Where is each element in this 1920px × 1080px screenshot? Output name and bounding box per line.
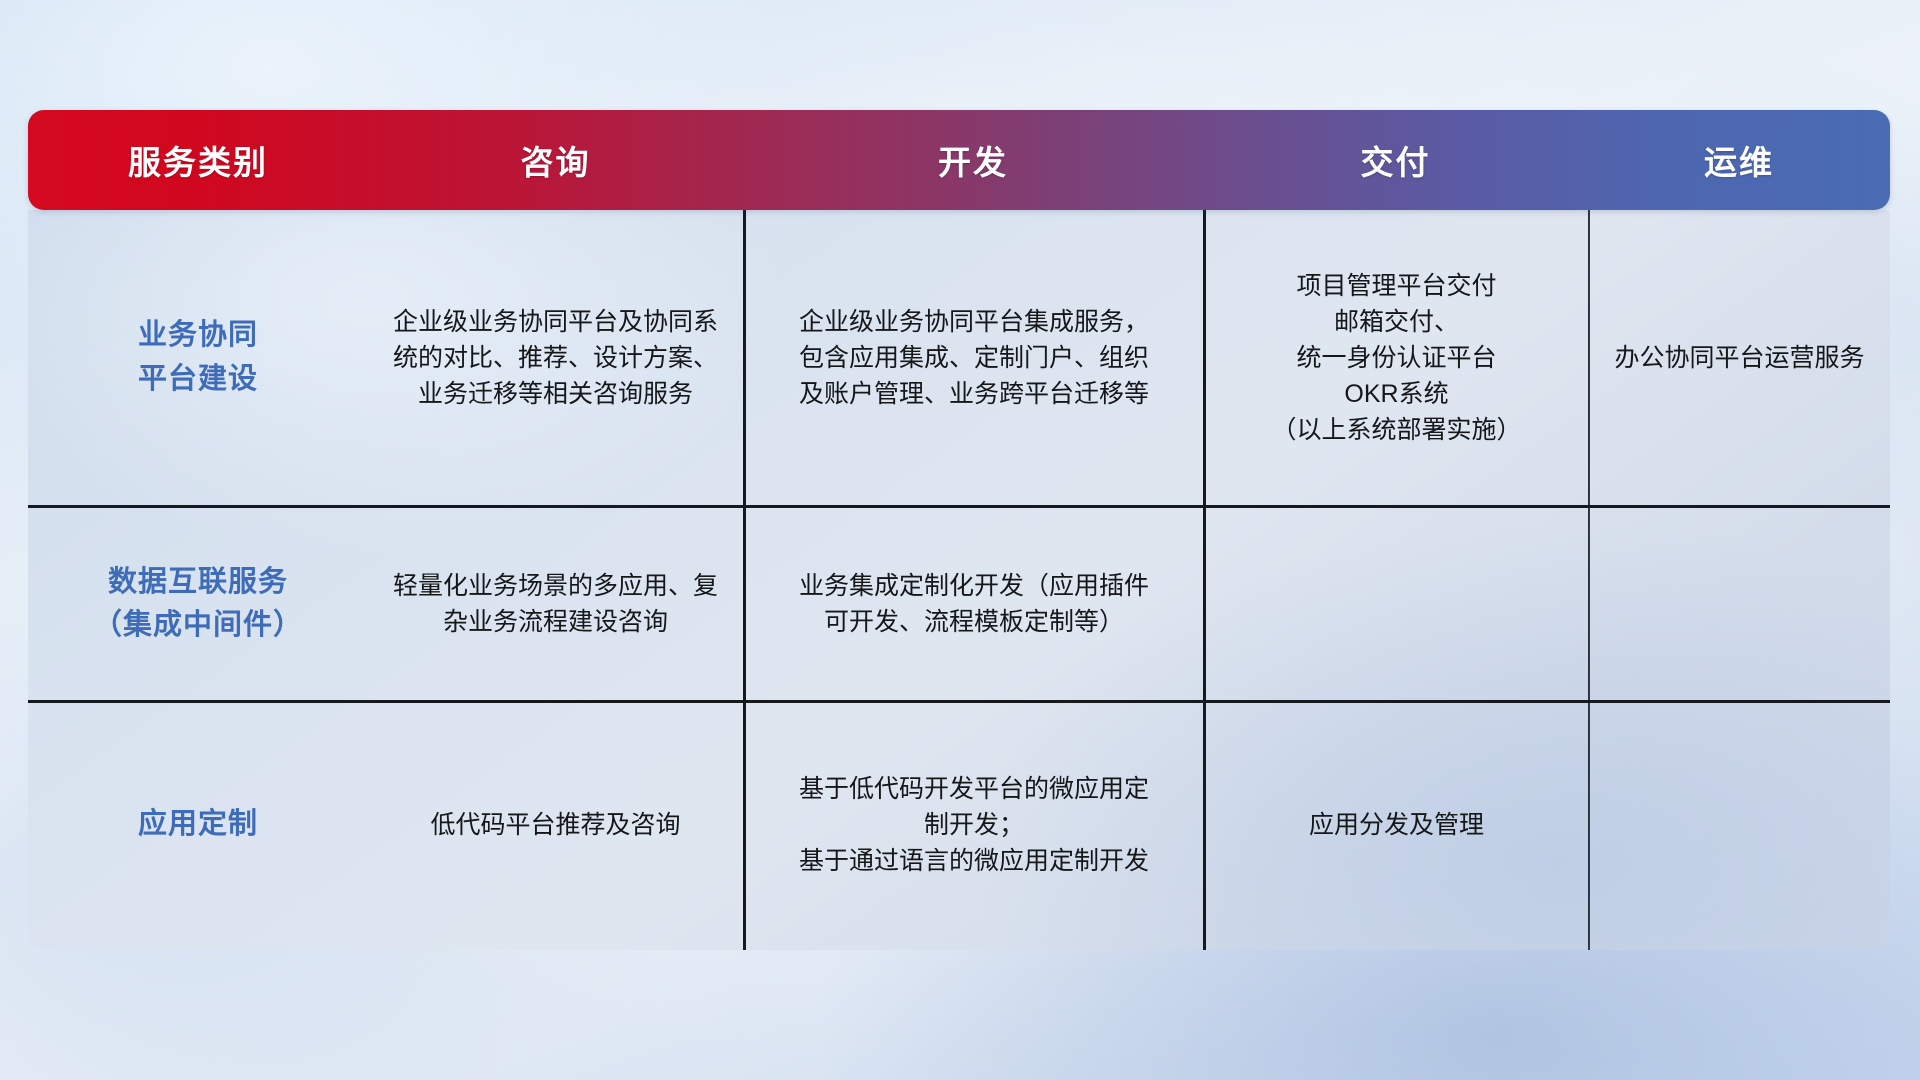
cell-operations <box>1588 703 1890 947</box>
cell-category: 业务协同 平台建设 <box>28 210 368 505</box>
cell-category: 应用定制 <box>28 703 368 947</box>
cell-category: 数据互联服务 （集成中间件） <box>28 508 368 700</box>
cell-consulting: 轻量化业务场景的多应用、复 杂业务流程建设咨询 <box>368 508 743 700</box>
table-row: 业务协同 平台建设 企业级业务协同平台及协同系 统的对比、推荐、设计方案、 业务… <box>28 210 1890 508</box>
cell-delivery: 应用分发及管理 <box>1203 703 1588 947</box>
cell-consulting: 低代码平台推荐及咨询 <box>368 703 743 947</box>
table-body: 业务协同 平台建设 企业级业务协同平台及协同系 统的对比、推荐、设计方案、 业务… <box>28 210 1890 950</box>
table-row: 应用定制 低代码平台推荐及咨询 基于低代码开发平台的微应用定 制开发； 基于通过… <box>28 703 1890 947</box>
column-header-delivery: 交付 <box>1203 110 1588 210</box>
cell-operations <box>1588 508 1890 700</box>
cell-development: 业务集成定制化开发（应用插件 可开发、流程模板定制等） <box>743 508 1203 700</box>
table-header-row: 服务类别 咨询 开发 交付 运维 <box>28 110 1890 210</box>
column-header-consulting: 咨询 <box>368 110 743 210</box>
table-row: 数据互联服务 （集成中间件） 轻量化业务场景的多应用、复 杂业务流程建设咨询 业… <box>28 508 1890 703</box>
cell-delivery <box>1203 508 1588 700</box>
column-header-operations: 运维 <box>1588 110 1890 210</box>
cell-delivery: 项目管理平台交付 邮箱交付、 统一身份认证平台 OKR系统 （以上系统部署实施） <box>1203 210 1588 505</box>
service-matrix-table: 服务类别 咨询 开发 交付 运维 业务协同 平台建设 企业级业务协同平台及协同系… <box>28 110 1890 950</box>
cell-development: 基于低代码开发平台的微应用定 制开发； 基于通过语言的微应用定制开发 <box>743 703 1203 947</box>
cell-development: 企业级业务协同平台集成服务， 包含应用集成、定制门户、组织 及账户管理、业务跨平… <box>743 210 1203 505</box>
cell-consulting: 企业级业务协同平台及协同系 统的对比、推荐、设计方案、 业务迁移等相关咨询服务 <box>368 210 743 505</box>
cell-operations: 办公协同平台运营服务 <box>1588 210 1890 505</box>
column-header-development: 开发 <box>743 110 1203 210</box>
column-header-category: 服务类别 <box>28 110 368 210</box>
